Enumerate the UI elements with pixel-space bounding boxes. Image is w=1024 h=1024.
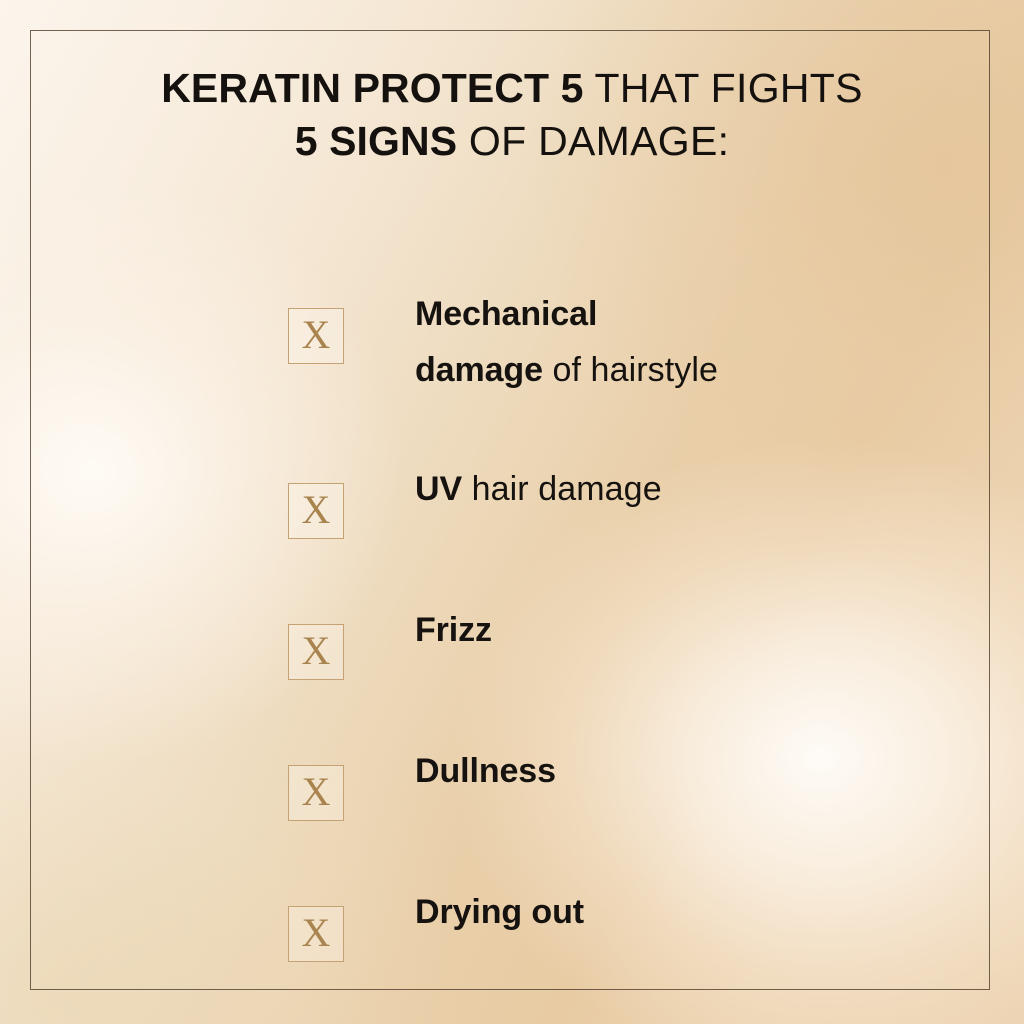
headline-line-1-regular: THAT FIGHTS xyxy=(584,65,863,111)
promo-poster: KERATIN PROTECT 5 THAT FIGHTS 5 SIGNS OF… xyxy=(0,0,1024,1024)
headline-line-2: 5 SIGNS OF DAMAGE: xyxy=(0,115,1024,168)
checkbox-frizz[interactable]: X xyxy=(288,624,344,680)
x-mark-icon: X xyxy=(289,484,343,538)
checklist-item: X Drying out xyxy=(288,884,948,962)
checklist-item-label: UV hair damage xyxy=(415,461,662,517)
checklist-item: X Dullness xyxy=(288,743,948,821)
headline-line-1: KERATIN PROTECT 5 THAT FIGHTS xyxy=(0,62,1024,115)
headline-line-1-bold: KERATIN PROTECT 5 xyxy=(161,65,583,111)
checklist-item-label-bold: Drying out xyxy=(415,893,584,931)
checkbox-drying-out[interactable]: X xyxy=(288,906,344,962)
checkbox-dullness[interactable]: X xyxy=(288,765,344,821)
x-mark-icon: X xyxy=(289,625,343,679)
checklist-item-label-line-2: damage of hairstyle xyxy=(415,342,718,398)
poster-content: KERATIN PROTECT 5 THAT FIGHTS 5 SIGNS OF… xyxy=(0,0,1024,1024)
checklist-item-label-line-1: Dullness xyxy=(415,743,556,799)
checklist-item-label-line-1: Frizz xyxy=(415,602,492,658)
headline-line-2-bold: 5 SIGNS xyxy=(295,118,457,164)
damage-signs-checklist: X Mechanical damage of hairstyle X UV ha… xyxy=(288,286,948,962)
checklist-item: X UV hair damage xyxy=(288,461,948,539)
checklist-item-label: Mechanical damage of hairstyle xyxy=(415,286,718,398)
checklist-item-label-bold: Dullness xyxy=(415,752,556,790)
x-mark-icon: X xyxy=(289,766,343,820)
x-mark-icon: X xyxy=(289,907,343,961)
checklist-item-label-regular: of hairstyle xyxy=(543,351,718,389)
x-mark-icon: X xyxy=(289,309,343,363)
checklist-item-label-bold: Mechanical xyxy=(415,295,597,333)
checklist-item-label-line-1: UV hair damage xyxy=(415,461,662,517)
checklist-item: X Mechanical damage of hairstyle xyxy=(288,286,948,398)
checklist-item: X Frizz xyxy=(288,602,948,680)
checklist-item-label-bold: Frizz xyxy=(415,611,492,649)
checklist-item-label: Dullness xyxy=(415,743,556,799)
checklist-item-label-line-1: Drying out xyxy=(415,884,584,940)
checklist-item-label: Drying out xyxy=(415,884,584,940)
headline: KERATIN PROTECT 5 THAT FIGHTS 5 SIGNS OF… xyxy=(0,62,1024,168)
checklist-item-label-bold-2: damage xyxy=(415,351,543,389)
checklist-item-label-bold: UV xyxy=(415,470,462,508)
checkbox-mechanical-damage[interactable]: X xyxy=(288,308,344,364)
headline-line-2-regular: OF DAMAGE: xyxy=(457,118,729,164)
checklist-item-label-line-1: Mechanical xyxy=(415,286,718,342)
checkbox-uv-hair-damage[interactable]: X xyxy=(288,483,344,539)
checklist-item-label: Frizz xyxy=(415,602,492,658)
checklist-item-label-regular: hair damage xyxy=(462,470,662,508)
